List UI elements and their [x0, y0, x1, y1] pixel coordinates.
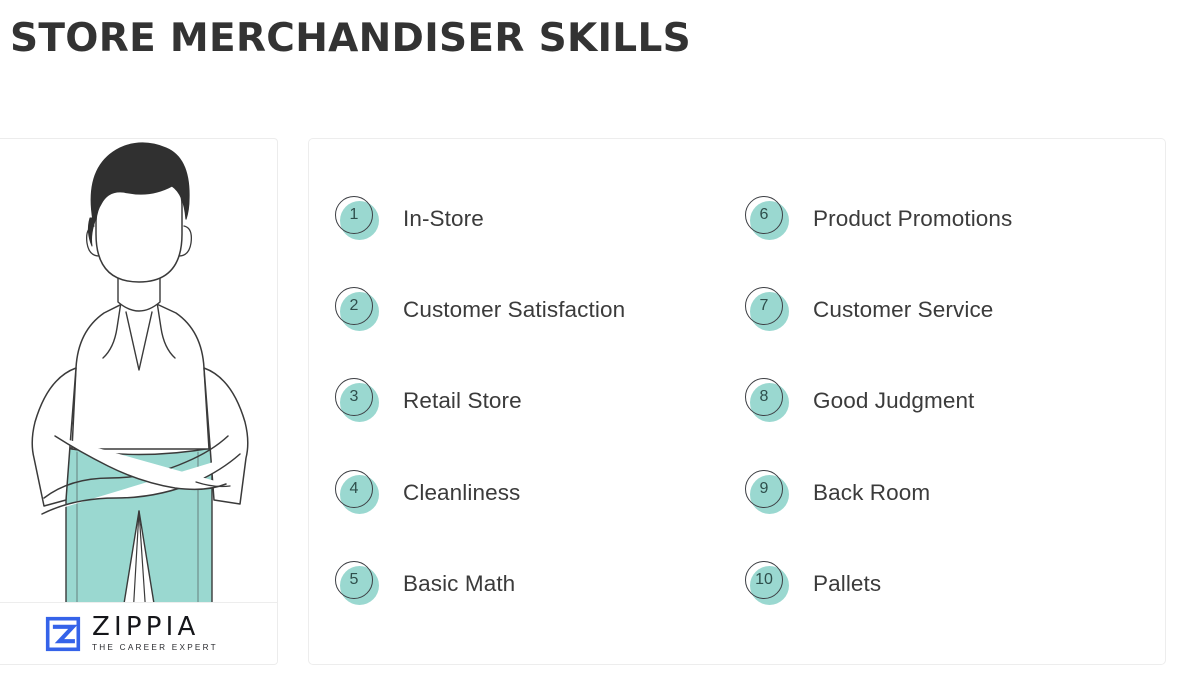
skills-grid: 1 In-Store 6 Product Promotions 2 Custom… — [309, 139, 1165, 664]
badge-number: 7 — [745, 287, 783, 325]
skill-number-badge: 3 — [335, 378, 381, 424]
skill-item-8[interactable]: 8 Good Judgment — [745, 356, 1155, 447]
skill-item-3[interactable]: 3 Retail Store — [335, 356, 745, 447]
zippia-tagline: THE CAREER EXPERT — [92, 644, 218, 652]
badge-number: 5 — [335, 561, 373, 599]
skill-label: Customer Service — [813, 297, 993, 323]
skill-number-badge: 9 — [745, 470, 791, 516]
skill-number-badge: 7 — [745, 287, 791, 333]
person-illustration — [0, 138, 278, 616]
skill-item-4[interactable]: 4 Cleanliness — [335, 447, 745, 538]
skill-number-badge: 6 — [745, 196, 791, 242]
badge-number: 4 — [335, 470, 373, 508]
skill-item-2[interactable]: 2 Customer Satisfaction — [335, 264, 745, 355]
illustration-card: ZIPPIA THE CAREER EXPERT — [0, 138, 278, 665]
skill-item-6[interactable]: 6 Product Promotions — [745, 173, 1155, 264]
badge-number: 9 — [745, 470, 783, 508]
skill-item-9[interactable]: 9 Back Room — [745, 447, 1155, 538]
skill-label: Cleanliness — [403, 480, 520, 506]
zippia-z-mark-icon — [45, 616, 81, 652]
skill-label: Retail Store — [403, 388, 522, 414]
skill-number-badge: 1 — [335, 196, 381, 242]
skill-number-badge: 4 — [335, 470, 381, 516]
badge-number: 1 — [335, 196, 373, 234]
skill-item-7[interactable]: 7 Customer Service — [745, 264, 1155, 355]
skills-card: 1 In-Store 6 Product Promotions 2 Custom… — [308, 138, 1166, 665]
skill-item-5[interactable]: 5 Basic Math — [335, 539, 745, 630]
skill-number-badge: 2 — [335, 287, 381, 333]
skill-item-1[interactable]: 1 In-Store — [335, 173, 745, 264]
page-title: STORE MERCHANDISER SKILLS — [10, 16, 691, 61]
skill-label: Back Room — [813, 480, 930, 506]
skill-label: Product Promotions — [813, 206, 1012, 232]
badge-number: 2 — [335, 287, 373, 325]
skill-label: Pallets — [813, 571, 881, 597]
badge-number: 3 — [335, 378, 373, 416]
skill-item-10[interactable]: 10 Pallets — [745, 539, 1155, 630]
skill-label: Good Judgment — [813, 388, 974, 414]
badge-number: 10 — [745, 561, 783, 599]
zippia-logo[interactable]: ZIPPIA THE CAREER EXPERT — [0, 602, 278, 664]
skill-label: Basic Math — [403, 571, 515, 597]
skill-label: In-Store — [403, 206, 484, 232]
zippia-wordmark: ZIPPIA — [92, 614, 218, 640]
skill-number-badge: 8 — [745, 378, 791, 424]
skill-label: Customer Satisfaction — [403, 297, 625, 323]
skill-number-badge: 5 — [335, 561, 381, 607]
badge-number: 8 — [745, 378, 783, 416]
badge-number: 6 — [745, 196, 783, 234]
skill-number-badge: 10 — [745, 561, 791, 607]
